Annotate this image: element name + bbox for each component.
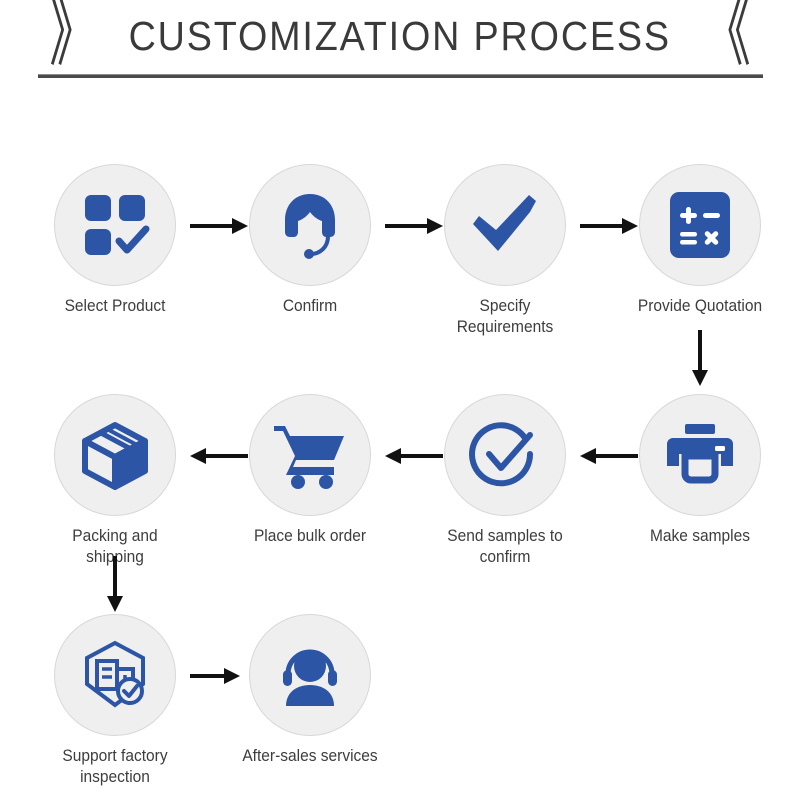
connector-arrow-left-2	[385, 444, 443, 468]
connector-arrow-right-4	[190, 664, 240, 688]
icon-circle	[54, 614, 176, 736]
factory-shield-check-icon	[79, 639, 151, 711]
package-box-icon	[79, 419, 151, 491]
headphones-person-icon	[273, 642, 347, 708]
flow-step-label: Send samples to confirm	[435, 526, 576, 568]
icon-circle	[249, 614, 371, 736]
printer-icon	[663, 422, 737, 488]
flow-step-after-sales[interactable]: After-sales services	[235, 614, 385, 767]
icon-circle	[639, 394, 761, 516]
page-header: 》CUSTOMIZATION PROCESS《	[0, 0, 800, 90]
title-divider	[38, 74, 763, 78]
flow-step-confirm[interactable]: Confirm	[235, 164, 385, 317]
flow-step-label: Support factory inspection	[45, 746, 186, 788]
calculator-icon	[668, 190, 732, 260]
icon-circle	[444, 164, 566, 286]
flow-step-factory-inspection[interactable]: Support factory inspection	[40, 614, 190, 788]
flow-step-label: Select Product	[45, 296, 186, 317]
icon-circle	[639, 164, 761, 286]
check-circle-icon	[468, 418, 542, 492]
flow-step-specify-requirements[interactable]: Specify Requirements	[430, 164, 580, 338]
icon-circle	[54, 164, 176, 286]
icon-circle	[54, 394, 176, 516]
connector-arrow-left-1	[580, 444, 638, 468]
connector-arrow-down-right	[688, 330, 712, 386]
flow-step-make-samples[interactable]: Make samples	[625, 394, 775, 547]
connector-arrow-right-2	[385, 214, 443, 238]
grid-check-icon	[79, 189, 151, 261]
flow-step-label: Confirm	[240, 296, 381, 317]
checkmark-icon	[467, 187, 543, 263]
flow-step-label: After-sales services	[240, 746, 381, 767]
flow-step-label: Specify Requirements	[435, 296, 576, 338]
headset-agent-icon	[273, 188, 347, 262]
icon-circle	[249, 394, 371, 516]
double-chevron-right-icon: 》	[49, 0, 97, 72]
page-title: CUSTOMIZATION PROCESS	[125, 12, 675, 60]
flow-step-label: Make samples	[630, 526, 771, 547]
icon-circle	[444, 394, 566, 516]
connector-arrow-right-1	[190, 214, 248, 238]
flow-step-label: Place bulk order	[240, 526, 381, 547]
flow-step-place-bulk-order[interactable]: Place bulk order	[235, 394, 385, 547]
flow-step-provide-quotation[interactable]: Provide Quotation	[625, 164, 775, 317]
flow-step-packing-shipping[interactable]: Packing and shipping	[40, 394, 190, 568]
connector-arrow-down-left	[103, 556, 127, 612]
flow-step-select-product[interactable]: Select Product	[40, 164, 190, 317]
shopping-cart-icon	[272, 421, 348, 489]
connector-arrow-right-3	[580, 214, 638, 238]
flow-step-send-samples[interactable]: Send samples to confirm	[430, 394, 580, 568]
icon-circle	[249, 164, 371, 286]
connector-arrow-left-3	[190, 444, 248, 468]
double-chevron-left-icon: 《	[703, 0, 751, 72]
flow-step-label: Provide Quotation	[630, 296, 771, 317]
title-row: 》CUSTOMIZATION PROCESS《	[0, 8, 800, 64]
